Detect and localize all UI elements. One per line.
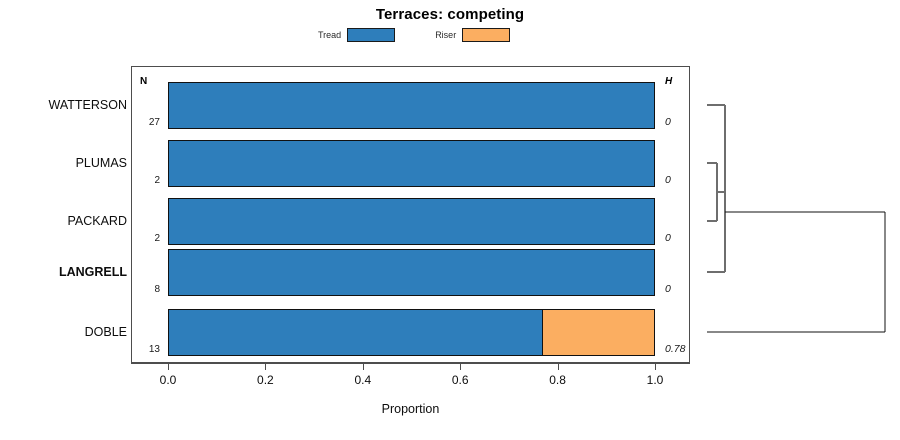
n-value-langrell: 8 xyxy=(138,284,160,295)
n-value-packard: 2 xyxy=(138,233,160,244)
x-tick-0.6 xyxy=(460,363,461,370)
bar-plumas[interactable] xyxy=(168,140,655,187)
category-label-plumas: PLUMAS xyxy=(3,156,127,170)
x-tick-label-0.8: 0.8 xyxy=(549,373,566,387)
bar-packard[interactable] xyxy=(168,198,655,245)
bar-langrell[interactable] xyxy=(168,249,655,296)
n-value-doble: 13 xyxy=(138,344,160,355)
category-label-doble: DOBLE xyxy=(3,325,127,339)
x-tick-0.4 xyxy=(363,363,364,370)
x-tick-label-0.4: 0.4 xyxy=(354,373,371,387)
column-header-h: H xyxy=(665,76,672,87)
legend-swatch-tread-icon xyxy=(347,28,395,42)
category-label-packard: PACKARD xyxy=(3,214,127,228)
h-value-doble: 0.78 xyxy=(665,343,685,355)
x-tick-label-0.6: 0.6 xyxy=(452,373,469,387)
category-axis-labels: WATTERSONPLUMASPACKARDLANGRELLDOBLE xyxy=(0,0,127,440)
x-tick-label-0.0: 0.0 xyxy=(160,373,177,387)
x-axis-title: Proportion xyxy=(131,402,690,416)
x-tick-0.0 xyxy=(168,363,169,370)
bar-segment-tread[interactable] xyxy=(169,310,542,355)
dendrogram-subtree-branches xyxy=(707,105,725,272)
legend-spacer xyxy=(395,35,435,36)
category-label-watterson: WATTERSON xyxy=(3,98,127,112)
n-value-watterson: 27 xyxy=(138,117,160,128)
x-tick-label-1.0: 1.0 xyxy=(647,373,664,387)
h-value-plumas: 0 xyxy=(665,174,671,186)
bar-doble[interactable] xyxy=(168,309,655,356)
category-label-langrell: LANGRELL xyxy=(3,265,127,279)
x-tick-1.0 xyxy=(655,363,656,370)
chart-canvas: Terraces: competing Tread Riser WATTERSO… xyxy=(0,0,900,440)
column-header-n: N xyxy=(140,76,147,87)
bar-watterson[interactable] xyxy=(168,82,655,129)
h-value-watterson: 0 xyxy=(665,116,671,128)
x-tick-0.2 xyxy=(265,363,266,370)
bar-segment-tread[interactable] xyxy=(169,141,654,186)
bar-segment-tread[interactable] xyxy=(169,83,654,128)
n-value-plumas: 2 xyxy=(138,175,160,186)
x-tick-label-0.2: 0.2 xyxy=(257,373,274,387)
legend-entry-tread: Tread xyxy=(318,28,395,42)
x-tick-0.8 xyxy=(558,363,559,370)
dendrogram xyxy=(690,0,900,440)
h-value-langrell: 0 xyxy=(665,283,671,295)
legend-swatch-riser-icon xyxy=(462,28,510,42)
chart-legend: Tread Riser xyxy=(318,27,510,43)
legend-entry-riser: Riser xyxy=(435,28,510,42)
legend-label-tread: Tread xyxy=(318,30,341,40)
bar-segment-tread[interactable] xyxy=(169,250,654,295)
bar-segment-riser[interactable] xyxy=(542,310,654,355)
legend-label-riser: Riser xyxy=(435,30,456,40)
x-axis-line xyxy=(131,363,690,364)
bar-segment-tread[interactable] xyxy=(169,199,654,244)
h-value-packard: 0 xyxy=(665,232,671,244)
dendrogram-root-branches xyxy=(707,212,885,332)
